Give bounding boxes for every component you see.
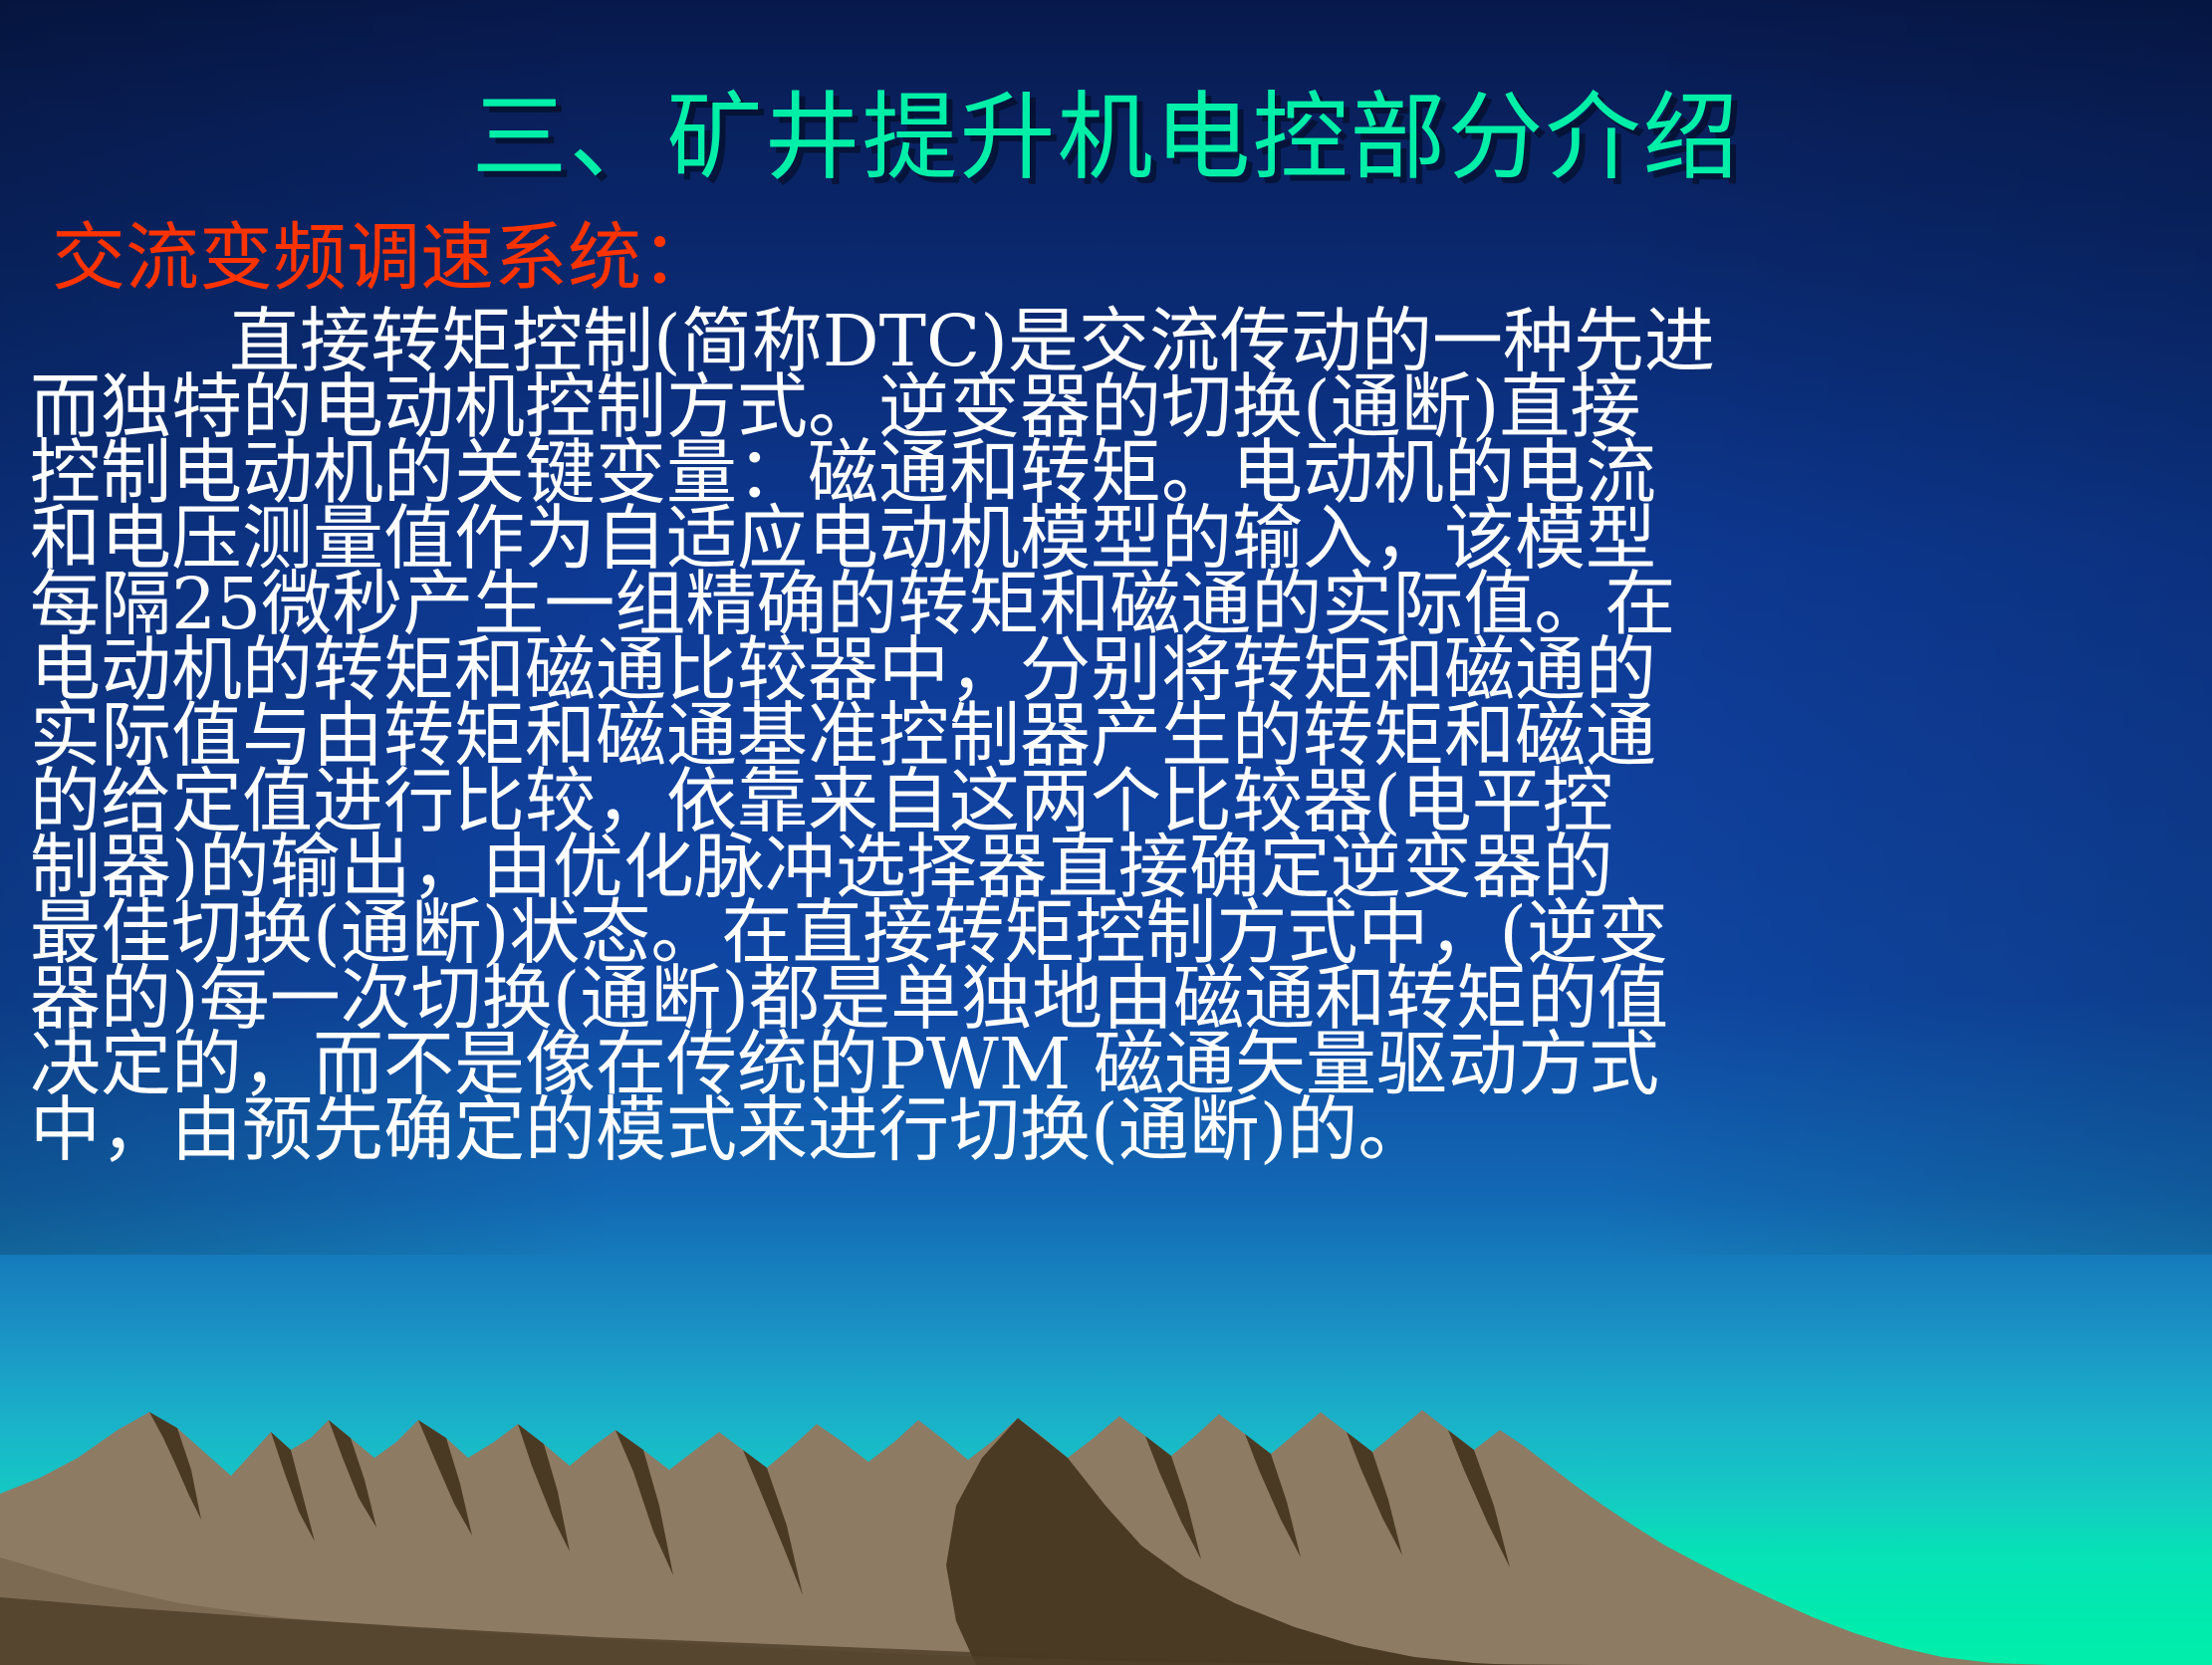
slide-title-container: 三、矿井提升机电控部分介绍 [0, 88, 2212, 188]
page-title: 三、矿井提升机电控部分介绍 [472, 88, 1741, 188]
body-line: 中，由预先确定的模式来进行切换(通断)的。 [30, 1097, 2191, 1163]
slide-body-text: 直接转矩控制(简称DTC)是交流传动的一种先进而独特的电动机控制方式。逆变器的切… [30, 309, 2191, 1163]
slide-subtitle: 交流变频调速系统： [52, 221, 715, 295]
slide-canvas: 三、矿井提升机电控部分介绍 交流变频调速系统： 直接转矩控制(简称DTC)是交流… [0, 0, 2212, 1665]
mountain-range-graphic [0, 1346, 2212, 1665]
